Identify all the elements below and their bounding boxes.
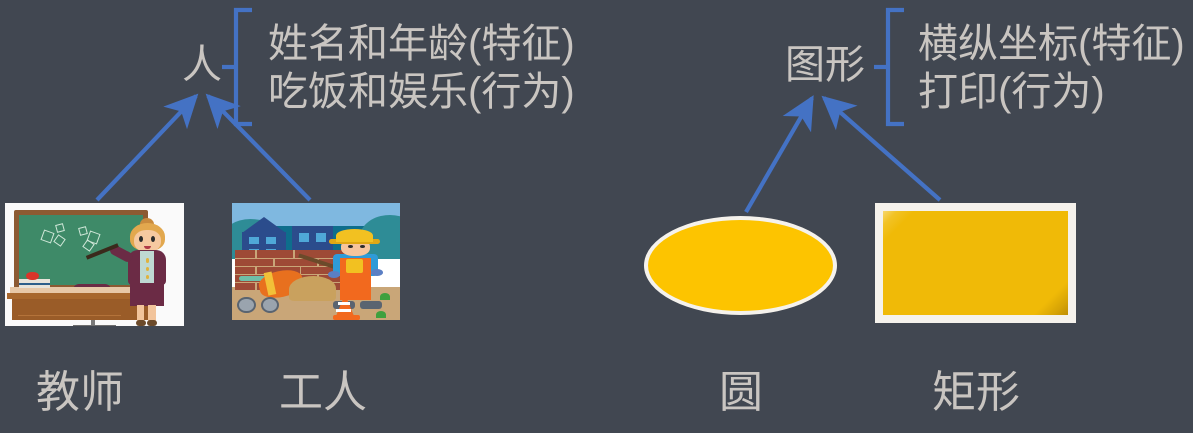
chalk-star-icon	[78, 226, 88, 236]
member-shape-attributes: 横纵坐标(特征)	[918, 24, 1185, 64]
shoe-icon	[136, 320, 145, 326]
house-roof	[242, 217, 286, 233]
arrow-teacher-to-person	[97, 96, 196, 200]
rectangle-shape	[875, 203, 1076, 323]
grass-tuft-icon	[380, 293, 390, 300]
overalls-pocket	[346, 259, 363, 273]
arrow-circle-to-shape	[746, 98, 812, 212]
button-icon	[146, 258, 150, 262]
ellipse-shape	[644, 216, 837, 315]
brick-mortar-line	[293, 250, 295, 258]
grass-tuft-icon	[376, 311, 386, 318]
class-label-shape: 图形	[785, 45, 865, 85]
diagram-canvas: 人 姓名和年龄(特征) 吃饭和娱乐(行为) 图形 横纵坐标(特征) 打印(行为)	[0, 0, 1193, 433]
window-icon	[266, 237, 276, 244]
chalk-star-icon	[40, 230, 54, 244]
construction-worker-illustration	[232, 203, 400, 320]
safety-helmet-icon	[336, 229, 373, 242]
class-label-person: 人	[182, 45, 222, 85]
window-icon	[249, 237, 259, 244]
instance-label-teacher: 教师	[36, 371, 124, 415]
shoe-icon	[147, 320, 156, 326]
skirt	[130, 283, 164, 306]
cone-stripe	[338, 302, 350, 305]
brick-mortar-line	[255, 282, 257, 290]
book-stack	[19, 279, 49, 288]
desk-highlight	[18, 315, 121, 316]
member-shape-behaviors: 打印(行为)	[918, 72, 1105, 112]
teacher-figure	[118, 220, 177, 326]
window-icon	[316, 233, 326, 241]
glove-icon	[328, 271, 340, 278]
bracket-person-members	[236, 10, 252, 124]
member-person-behaviors: 吃饭和娱乐(行为)	[268, 72, 575, 112]
instance-label-rectangle: 矩形	[932, 371, 1020, 415]
cone-base	[333, 315, 360, 320]
button-icon	[146, 267, 150, 271]
bracket-shape-members	[888, 10, 904, 124]
glove-icon	[371, 269, 383, 276]
eye-icon	[139, 236, 143, 242]
eye-icon	[348, 245, 353, 248]
brick-mortar-line	[235, 258, 346, 260]
mixer-wheel	[261, 297, 279, 313]
brick-mortar-line	[255, 250, 257, 258]
eye-icon	[151, 236, 155, 242]
window-icon	[299, 233, 309, 241]
chair-base	[73, 325, 116, 326]
member-person-attributes: 姓名和年龄(特征)	[268, 24, 575, 64]
teacher-classroom-illustration	[5, 203, 184, 326]
chalk-star-icon	[55, 224, 65, 234]
brick-mortar-line	[255, 266, 257, 274]
instance-label-circle: 圆	[719, 371, 763, 415]
book-icon	[19, 285, 49, 288]
boot-icon	[360, 301, 382, 309]
chalk-star-icon	[53, 234, 66, 247]
eye-icon	[360, 245, 365, 248]
rectangle-bevel-fill	[883, 211, 1068, 315]
mixer-wheel	[237, 297, 255, 313]
cone-stripe	[336, 309, 351, 312]
brick-mortar-line	[273, 258, 275, 266]
instance-label-worker: 工人	[279, 371, 367, 415]
sand-pile	[289, 276, 336, 302]
